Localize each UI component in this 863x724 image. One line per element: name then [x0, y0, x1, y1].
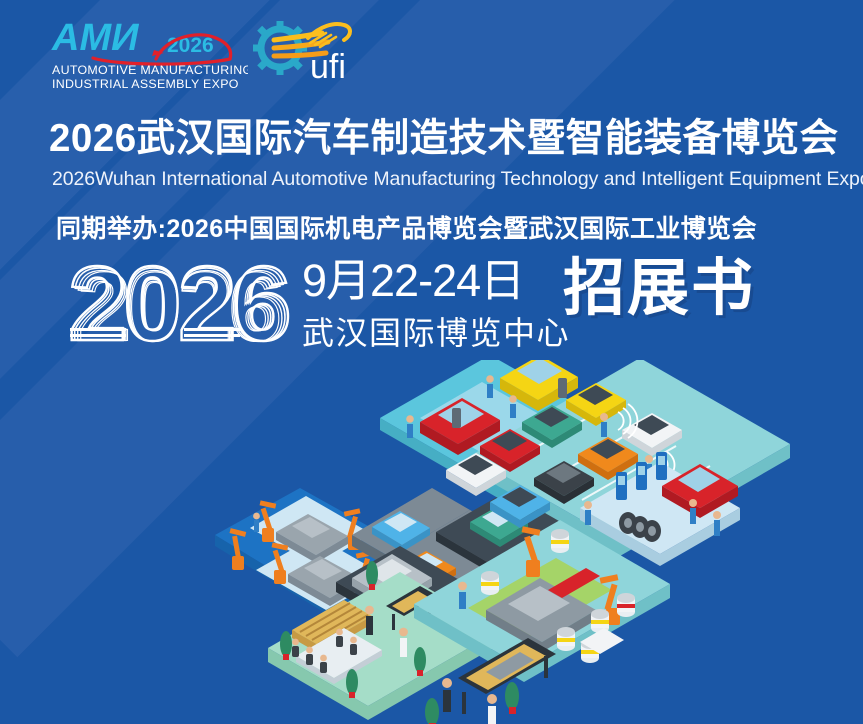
visitor-figure — [487, 694, 497, 724]
logo-row: АМИ 2026 AUTOMOTIVE MANUFACTURING & INDU… — [0, 0, 863, 98]
isometric-auto-factory-scene — [0, 360, 863, 724]
hero-year-2026: 2026 2026 2026 2026 2026 — [66, 252, 298, 350]
worker-figure — [486, 375, 494, 398]
event-date-venue: 9月22-24日 武汉国际博览中心 — [302, 258, 570, 354]
potted-plant — [505, 682, 519, 714]
ami-tagline-line2: INDUSTRIAL ASSEMBLY EXPO — [52, 77, 239, 90]
concurrent-events-line: 同期举办:2026中国国际机电产品博览会暨武汉国际工业博览会 — [56, 209, 846, 245]
ev-charger-icon — [636, 462, 647, 490]
ufi-logo[interactable]: ufi — [248, 16, 378, 86]
ufi-wordmark-text: ufi — [310, 48, 346, 86]
potted-plant — [425, 698, 439, 724]
page-title: 2026武汉国际汽车制造技术暨智能装备博览会 — [49, 118, 839, 160]
visitor-figure — [442, 678, 452, 712]
worker-figure — [689, 499, 697, 524]
document-label: 招展书 — [563, 258, 755, 320]
worker-figure — [458, 582, 467, 609]
ami-year-text: 2026 — [167, 34, 214, 57]
expo-poster: АМИ 2026 AUTOMOTIVE MANUFACTURING & INDU… — [0, 0, 863, 724]
worker-figure — [584, 501, 592, 525]
ami-wordmark-text: АМИ — [51, 17, 139, 59]
worker-figure — [406, 415, 414, 438]
staff-figure — [399, 628, 408, 657]
event-venue: 武汉国际博览中心 — [302, 308, 570, 354]
ev-charger-icon — [656, 452, 667, 480]
ami-tagline-line1: AUTOMOTIVE MANUFACTURING & — [52, 63, 248, 77]
worker-figure — [509, 395, 517, 418]
staff-figure — [365, 606, 374, 635]
worker-figure — [253, 513, 260, 532]
worker-figure-inspector — [600, 413, 608, 437]
worker-figure — [713, 511, 721, 536]
page-subtitle-english: 2026Wuhan International Automotive Manuf… — [52, 168, 852, 191]
event-date: 9月22-24日 — [302, 258, 570, 304]
ami-expo-logo[interactable]: АМИ 2026 AUTOMOTIVE MANUFACTURING & INDU… — [48, 12, 248, 90]
ev-charger-icon — [616, 472, 627, 500]
